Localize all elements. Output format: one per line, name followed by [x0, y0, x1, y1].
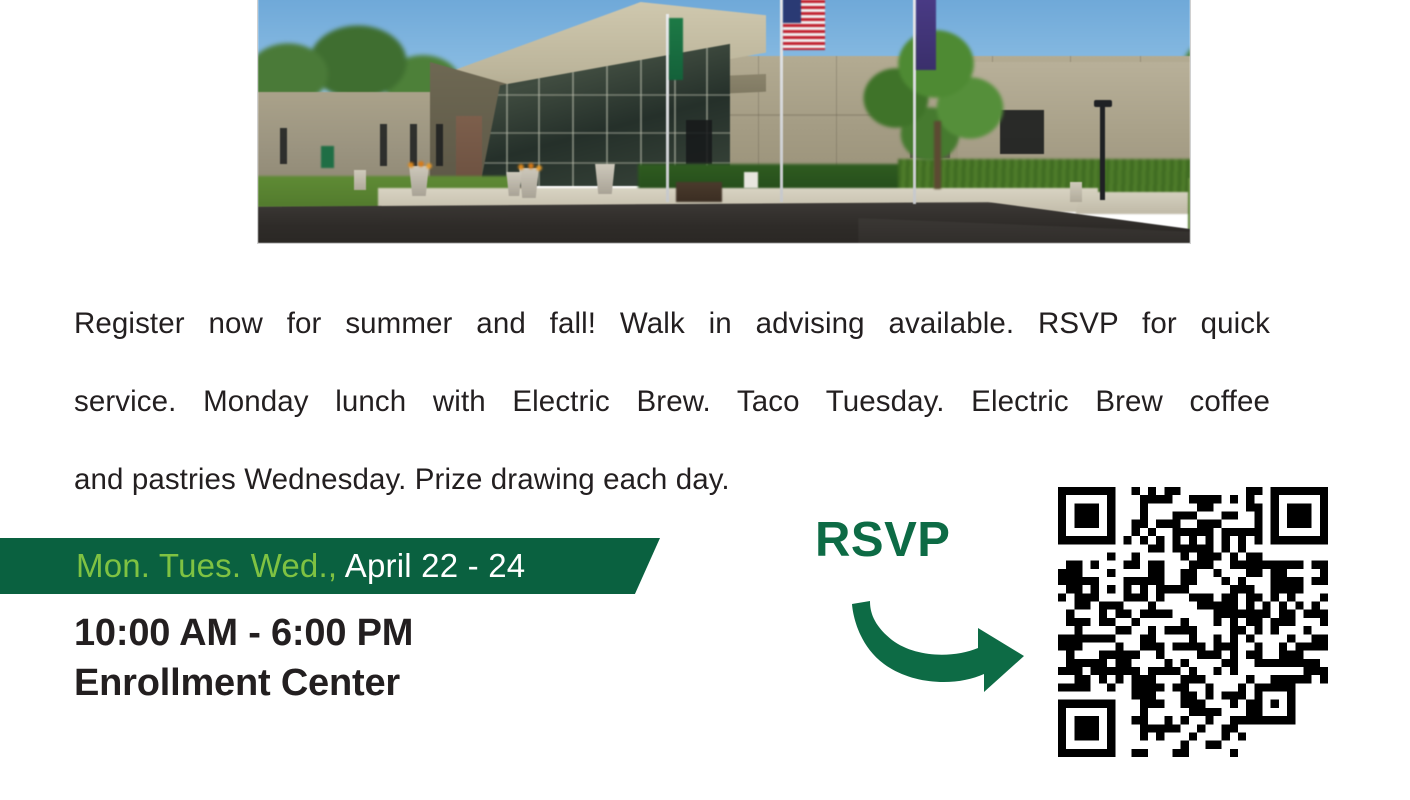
site-sign: [744, 172, 758, 188]
tree-trunk: [934, 121, 941, 189]
directional-sign: [321, 146, 334, 168]
bench: [676, 182, 722, 202]
rsvp-label: RSVP: [815, 512, 950, 568]
description-line-1: Register now for summer and fall! Walk i…: [74, 304, 1270, 382]
event-description: Register now for summer and fall! Walk i…: [74, 304, 1270, 499]
date-days: Mon. Tues. Wed.,: [76, 547, 337, 584]
light-fixture: [1094, 100, 1112, 107]
date-range: April 22 - 24: [345, 547, 526, 584]
building-photo-inner: [258, 0, 1190, 243]
sidewalk-right: [1076, 192, 1190, 214]
qr-code[interactable]: [1058, 487, 1328, 757]
date-banner: Mon. Tues. Wed., April 22 - 24: [0, 538, 660, 594]
event-time: 10:00 AM - 6:00 PM: [74, 608, 413, 658]
event-location: Enrollment Center: [74, 658, 413, 708]
building-photo: [258, 0, 1190, 243]
tree-cluster-center-right: [858, 16, 1028, 191]
date-banner-text: Mon. Tues. Wed., April 22 - 24: [76, 547, 525, 585]
curved-arrow-down-right-icon: [848, 598, 1028, 698]
event-details: 10:00 AM - 6:00 PM Enrollment Center: [74, 608, 413, 708]
description-line-2: service. Monday lunch with Electric Brew…: [74, 382, 1270, 460]
light-pole: [1100, 104, 1105, 200]
